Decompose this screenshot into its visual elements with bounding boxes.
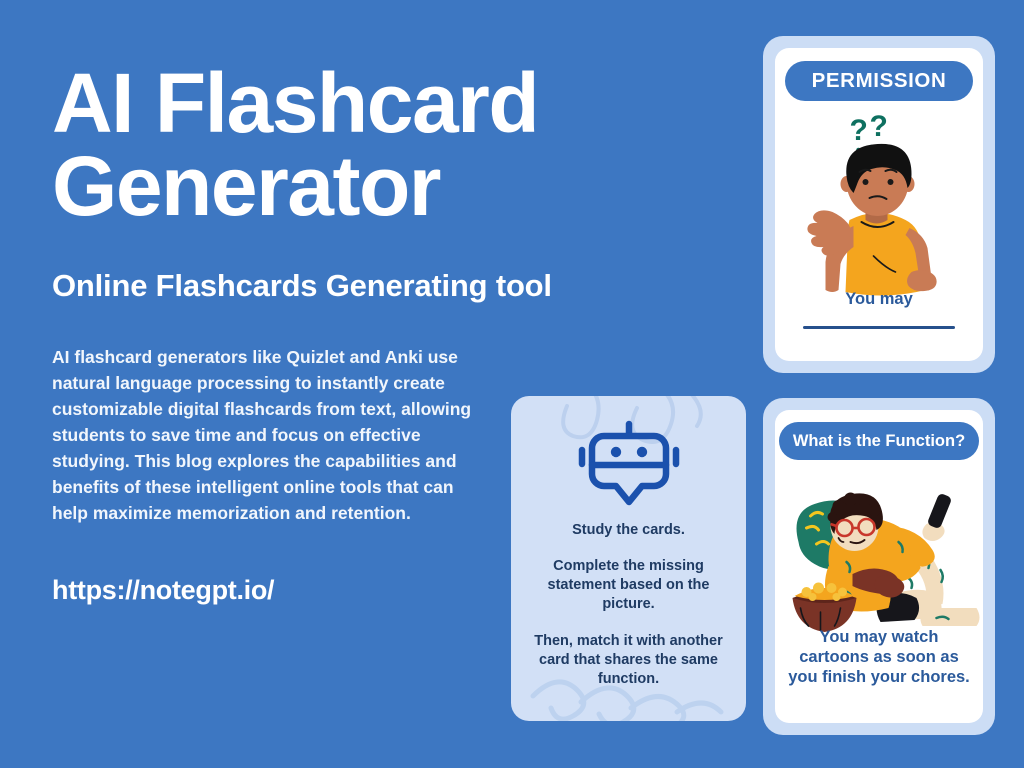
- flashcard-function-caption: You may watch cartoons as soon as you fi…: [775, 627, 983, 687]
- boy-raising-hand-illustration: ? ?: [792, 110, 967, 300]
- instructions-text-block: Study the cards. Complete the missing st…: [525, 521, 732, 689]
- instructions-card[interactable]: Study the cards. Complete the missing st…: [511, 396, 746, 721]
- instruction-line-3: Then, match it with another card that sh…: [525, 632, 732, 689]
- flashcard-function-inner: What is the Function?: [775, 410, 983, 723]
- instruction-line-2: Complete the missing statement based on …: [525, 557, 732, 614]
- flashcard-permission-caption: You may: [775, 289, 983, 309]
- svg-text:?: ?: [870, 110, 888, 143]
- robot-icon: [574, 420, 684, 508]
- page-subtitle: Online Flashcards Generating tool: [52, 268, 712, 304]
- flashcard-function[interactable]: What is the Function?: [763, 398, 995, 735]
- description-paragraph: AI flashcard generators like Quizlet and…: [52, 345, 477, 526]
- flashcard-function-header: What is the Function?: [779, 422, 979, 460]
- flashcard-permission[interactable]: PERMISSION ? ?: [763, 36, 995, 373]
- flashcard-permission-header: PERMISSION: [785, 61, 973, 101]
- flashcard-permission-inner: PERMISSION ? ?: [775, 48, 983, 361]
- page-title: AI Flashcard Generator: [52, 62, 712, 228]
- answer-blank-line: [803, 326, 955, 329]
- instruction-line-1: Study the cards.: [525, 521, 732, 540]
- person-watching-tv-with-popcorn-illustration: [777, 482, 982, 642]
- poster-canvas: AI Flashcard Generator Online Flashcards…: [0, 0, 1024, 768]
- svg-text:?: ?: [850, 114, 868, 147]
